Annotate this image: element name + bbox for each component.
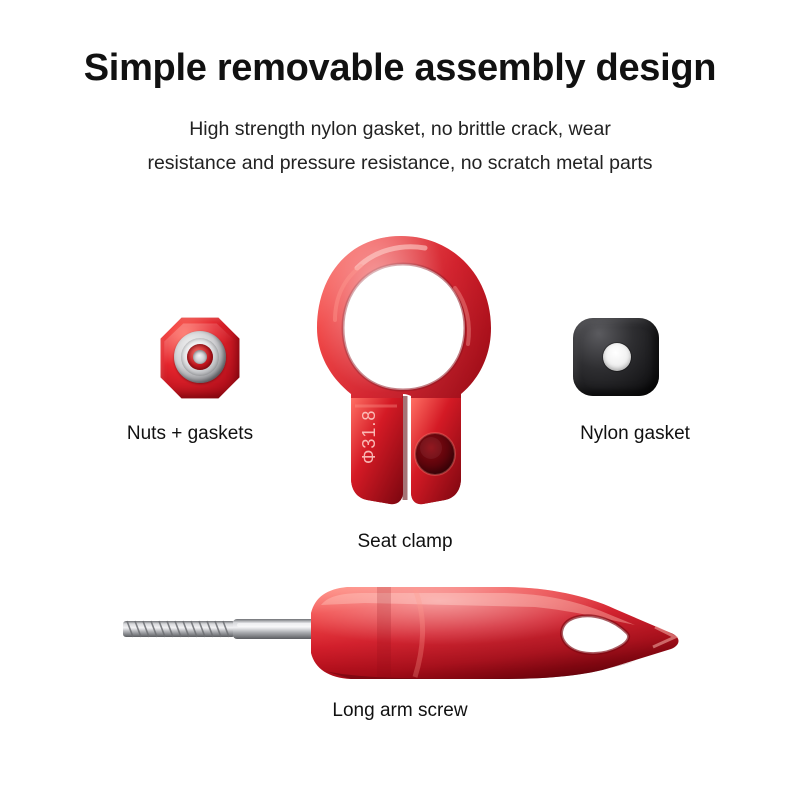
screw-red-arm [311, 587, 679, 679]
nylon-gasket-image [573, 318, 659, 396]
long-arm-screw-image [115, 575, 685, 685]
seat-clamp-right-lug [411, 398, 461, 504]
part-label-nuts: Nuts + gaskets [55, 423, 325, 445]
part-label-nylon-gasket: Nylon gasket [490, 423, 780, 445]
washer-center-hole [193, 350, 207, 364]
page-subtitle: High strength nylon gasket, no brittle c… [0, 112, 800, 180]
part-label-long-arm-screw: Long arm screw [250, 700, 550, 722]
part-label-seat-clamp: Seat clamp [270, 531, 540, 553]
seat-clamp-engraving: Φ31.8 [359, 410, 379, 464]
page-title: Simple removable assembly design [0, 47, 800, 90]
seat-clamp-image: Φ31.8 [305, 228, 505, 523]
nylon-gasket-hole [603, 343, 631, 371]
nuts-and-gaskets-image [158, 316, 242, 400]
seat-clamp-ring [317, 236, 491, 504]
seat-clamp-engraving-text: Φ31.8 [359, 410, 379, 464]
page-subtitle-line-1: High strength nylon gasket, no brittle c… [0, 112, 800, 146]
page-subtitle-line-2: resistance and pressure resistance, no s… [0, 146, 800, 180]
